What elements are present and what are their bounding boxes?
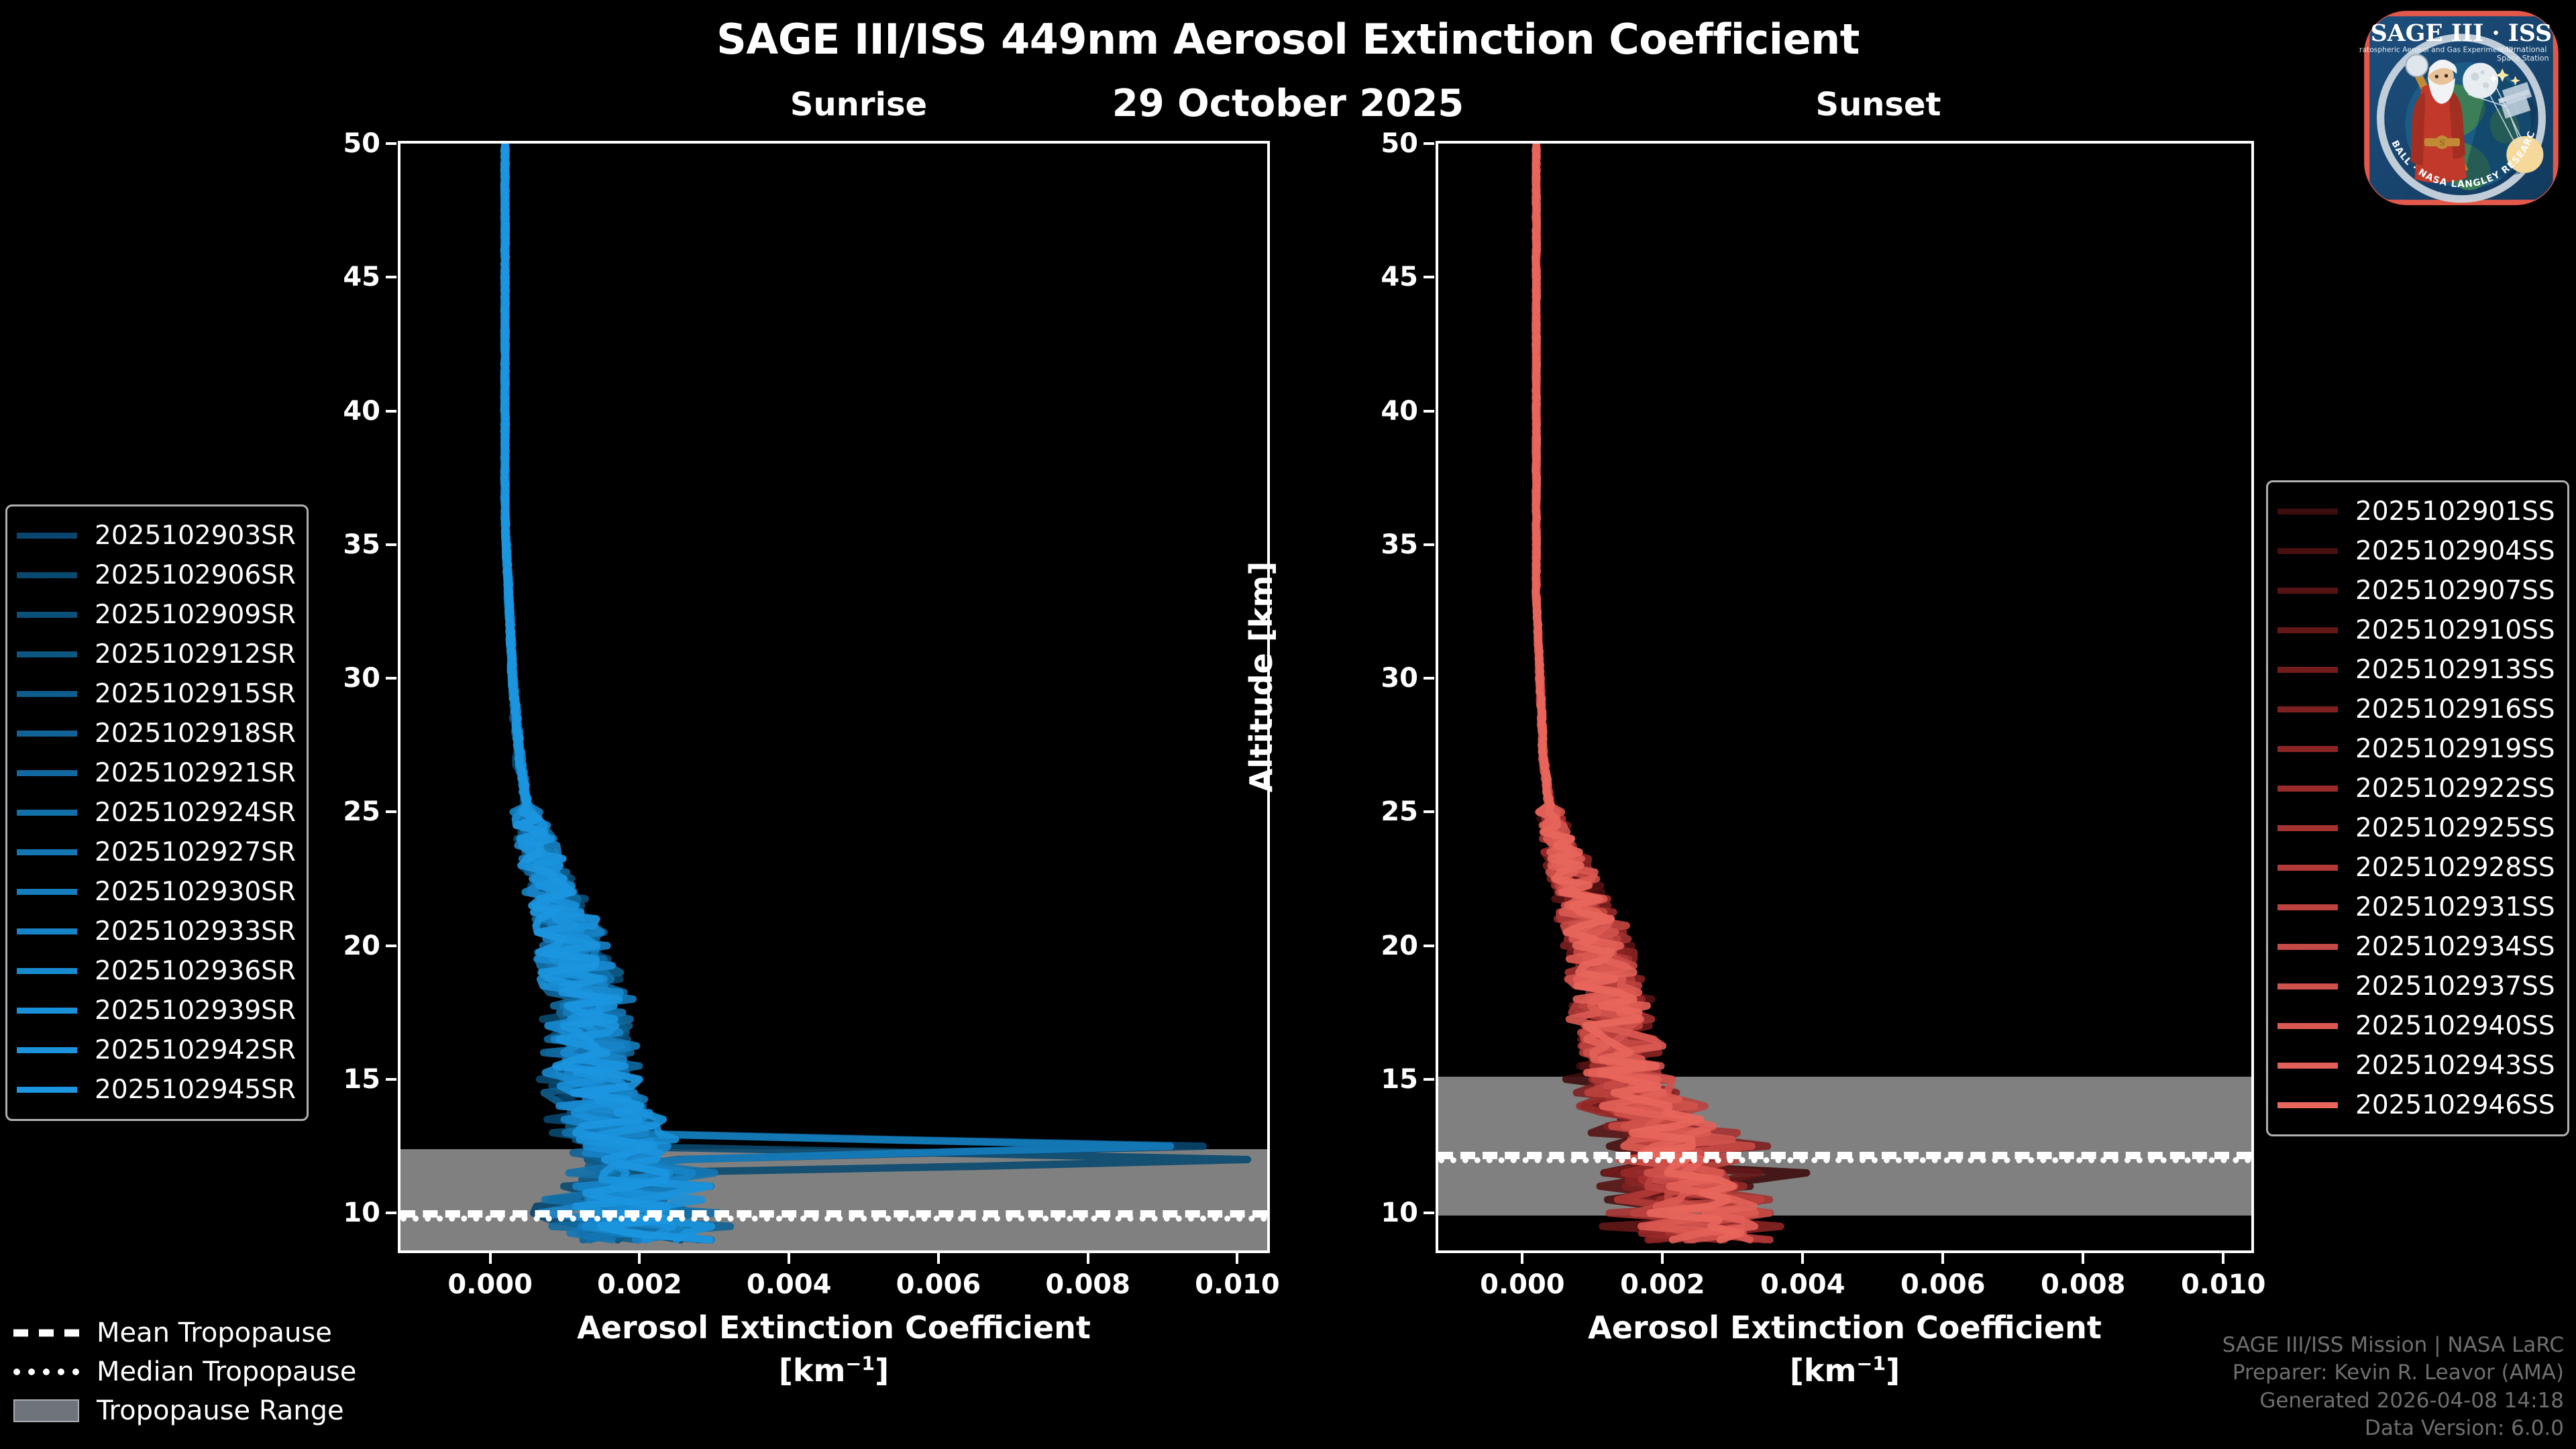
legend-label: 2025102924SR: [95, 798, 296, 828]
y-tick-mark: [1424, 945, 1434, 947]
y-tick-label: 45: [280, 262, 380, 292]
legend-item[interactable]: 2025102924SR: [17, 793, 294, 833]
credits-block: SAGE III/ISS Mission | NASA LaRC Prepare…: [2222, 1332, 2564, 1442]
legend-item[interactable]: 2025102921SR: [17, 753, 294, 793]
data-curves-sunset: [1438, 144, 2251, 1250]
legend-item-median-tropopause: Median Tropopause: [13, 1352, 362, 1391]
legend-item[interactable]: 2025102903SR: [17, 516, 294, 555]
legend-color-swatch: [17, 1047, 77, 1053]
legend-item[interactable]: 2025102906SR: [17, 555, 294, 595]
y-tick-label: 10: [280, 1197, 380, 1228]
legend-item[interactable]: 2025102940SS: [2277, 1006, 2555, 1046]
panel-title-sunrise: Sunrise: [671, 86, 1046, 123]
y-tick-mark: [1424, 543, 1434, 546]
legend-color-swatch: [2277, 548, 2338, 554]
x-tick-label: 0.004: [715, 1269, 863, 1300]
y-tick-mark: [1424, 1078, 1434, 1081]
x-tick-mark: [1661, 1253, 1664, 1264]
legend-label: 2025102928SS: [2355, 853, 2555, 883]
legend-label: 2025102903SR: [95, 521, 296, 551]
legend-color-swatch: [17, 1008, 77, 1014]
legend-item[interactable]: 2025102916SS: [2277, 690, 2555, 729]
y-tick-label: 15: [1318, 1064, 1418, 1095]
legend-label: 2025102909SR: [95, 600, 296, 630]
legend-item[interactable]: 2025102937SS: [2277, 967, 2555, 1006]
legend-label-mean-tropopause: Mean Tropopause: [97, 1318, 332, 1348]
plot-area-sunrise: [398, 141, 1270, 1253]
legend-color-swatch: [17, 928, 77, 934]
legend-label: 2025102922SS: [2355, 773, 2555, 804]
legend-label-median-tropopause: Median Tropopause: [97, 1356, 356, 1387]
legend-item[interactable]: 2025102904SS: [2277, 531, 2555, 571]
legend-color-swatch: [17, 572, 77, 578]
legend-item[interactable]: 2025102901SS: [2277, 492, 2555, 531]
credit-line-2: Preparer: Kevin R. Leavor (AMA): [2222, 1359, 2564, 1387]
y-tick-label: 20: [1318, 930, 1418, 961]
y-tick-mark: [1424, 677, 1434, 680]
legend-label: 2025102930SR: [95, 877, 296, 907]
x-tick-mark: [1087, 1253, 1089, 1264]
x-tick-label: 0.008: [1014, 1269, 1162, 1300]
legend-item[interactable]: 2025102936SR: [17, 951, 294, 991]
legend-label: 2025102934SS: [2355, 932, 2555, 962]
legend-color-swatch: [17, 651, 77, 657]
legend-item[interactable]: 2025102912SR: [17, 635, 294, 674]
x-tick-label: 0.000: [417, 1269, 564, 1300]
dotted-line-icon: [13, 1363, 79, 1381]
legend-item[interactable]: 2025102925SS: [2277, 808, 2555, 848]
sage-iii-iss-mission-logo-icon: S BALL · NASA LANGLEY RESEARCH CENTER · …: [2359, 5, 2564, 211]
legend-color-swatch: [2277, 627, 2338, 633]
y-tick-mark: [1424, 276, 1434, 278]
legend-color-swatch: [2277, 865, 2338, 871]
legend-color-swatch: [17, 1087, 77, 1093]
legend-item[interactable]: 2025102933SR: [17, 912, 294, 951]
legend-color-swatch: [17, 533, 77, 539]
x-tick-label: 0.002: [1589, 1269, 1736, 1300]
legend-color-swatch: [17, 968, 77, 974]
x-tick-mark: [638, 1253, 641, 1264]
legend-label: 2025102942SR: [95, 1035, 296, 1065]
legend-item[interactable]: 2025102913SS: [2277, 650, 2555, 690]
legend-color-swatch: [2277, 588, 2338, 594]
y-tick-mark: [386, 677, 396, 680]
logo-subtitle-left: Stratospheric Aerosol and Gas Experiment…: [2359, 45, 2513, 54]
y-tick-label: 40: [1318, 396, 1418, 427]
x-tick-mark: [1236, 1253, 1238, 1264]
x-axis-title-line2: [km−1]: [398, 1352, 1270, 1389]
date-subtitle: 29 October 2025: [0, 82, 2576, 125]
legend-item[interactable]: 2025102922SS: [2277, 769, 2555, 808]
credit-line-3: Generated 2026-04-08 14:18: [2222, 1387, 2564, 1415]
legend-sunrise[interactable]: 2025102903SR2025102906SR2025102909SR2025…: [5, 504, 309, 1121]
legend-color-swatch: [2277, 825, 2338, 831]
legend-item[interactable]: 2025102945SR: [17, 1070, 294, 1110]
legend-label: 2025102946SS: [2355, 1090, 2555, 1120]
x-tick-mark: [2222, 1253, 2224, 1264]
legend-item[interactable]: 2025102915SR: [17, 674, 294, 714]
x-tick-mark: [1941, 1253, 1944, 1264]
y-tick-mark: [386, 945, 396, 947]
legend-item[interactable]: 2025102939SR: [17, 991, 294, 1030]
legend-color-swatch: [2277, 983, 2338, 989]
legend-label: 2025102940SS: [2355, 1011, 2555, 1041]
x-tick-label: 0.006: [1869, 1269, 2017, 1300]
filled-box-icon: [13, 1402, 79, 1419]
legend-color-swatch: [17, 612, 77, 618]
dashed-line-icon: [13, 1324, 79, 1342]
legend-color-swatch: [2277, 904, 2338, 910]
legend-item-mean-tropopause: Mean Tropopause: [13, 1313, 362, 1352]
legend-color-swatch: [2277, 746, 2338, 752]
x-tick-mark: [489, 1253, 492, 1264]
legend-label: 2025102933SR: [95, 916, 296, 947]
x-tick-label: 0.002: [566, 1269, 713, 1300]
legend-item-tropopause-range: Tropopause Range: [13, 1391, 362, 1430]
x-tick-mark: [1521, 1253, 1523, 1264]
legend-label: 2025102910SS: [2355, 615, 2555, 645]
y-tick-label: 10: [1318, 1197, 1418, 1228]
plot-area-sunset: [1436, 141, 2254, 1253]
legend-sunset[interactable]: 2025102901SS2025102904SS2025102907SS2025…: [2266, 480, 2569, 1136]
legend-label: 2025102921SR: [95, 758, 296, 788]
legend-label: 2025102945SR: [95, 1075, 296, 1105]
legend-color-swatch: [2277, 944, 2338, 950]
y-tick-mark: [386, 410, 396, 413]
y-tick-label: 50: [280, 128, 380, 159]
panel-title-sunset: Sunset: [1690, 86, 2066, 123]
x-tick-label: 0.004: [1729, 1269, 1876, 1300]
legend-label: 2025102907SS: [2355, 576, 2555, 606]
legend-label: 2025102916SS: [2355, 694, 2555, 724]
x-axis-title-line1: Aerosol Extinction Coefficient: [398, 1309, 1270, 1346]
y-tick-label: 45: [1318, 262, 1418, 292]
legend-label: 2025102904SS: [2355, 536, 2555, 566]
y-tick-mark: [386, 142, 396, 145]
logo-title: SAGE III · ISS: [2371, 19, 2552, 47]
legend-label: 2025102901SS: [2355, 496, 2555, 527]
legend-item[interactable]: 2025102928SS: [2277, 848, 2555, 888]
legend-color-swatch: [2277, 1023, 2338, 1029]
tropopause-legend: Mean Tropopause Median Tropopause Tropop…: [13, 1313, 362, 1430]
legend-label-tropopause-range: Tropopause Range: [97, 1395, 344, 1426]
x-tick-mark: [788, 1253, 790, 1264]
legend-color-swatch: [17, 810, 77, 816]
x-tick-label: 0.006: [865, 1269, 1012, 1300]
legend-item[interactable]: 2025102946SS: [2277, 1085, 2555, 1125]
legend-color-swatch: [17, 770, 77, 776]
x-tick-mark: [1801, 1253, 1804, 1264]
legend-color-swatch: [2277, 1063, 2338, 1069]
svg-text:S: S: [2439, 138, 2445, 148]
legend-item[interactable]: 2025102918SR: [17, 714, 294, 753]
legend-color-swatch: [2277, 786, 2338, 792]
legend-item[interactable]: 2025102931SS: [2277, 888, 2555, 927]
y-tick-label: 50: [1318, 128, 1418, 159]
legend-item[interactable]: 2025102934SS: [2277, 927, 2555, 967]
legend-label: 2025102925SS: [2355, 813, 2555, 843]
legend-label: 2025102915SR: [95, 679, 296, 709]
y-tick-label: 30: [1318, 663, 1418, 694]
y-tick-mark: [386, 1212, 396, 1214]
x-axis-title-line2: [km−1]: [1436, 1352, 2254, 1389]
y-tick-mark: [1424, 810, 1434, 813]
legend-color-swatch: [17, 889, 77, 895]
x-axis-title-sunrise: Aerosol Extinction Coefficient [km−1]: [398, 1309, 1270, 1389]
y-tick-mark: [1424, 142, 1434, 145]
y-tick-mark: [1424, 410, 1434, 413]
logo-subtitle-right-2: Space Station: [2497, 54, 2549, 63]
legend-item[interactable]: 2025102919SS: [2277, 729, 2555, 769]
legend-label: 2025102931SS: [2355, 892, 2555, 922]
logo-subtitle-right-1: International: [2499, 45, 2547, 54]
legend-item[interactable]: 2025102927SR: [17, 833, 294, 872]
legend-color-swatch: [2277, 508, 2338, 515]
legend-color-swatch: [17, 849, 77, 855]
median-tropopause-line: [400, 1216, 1267, 1222]
legend-label: 2025102913SS: [2355, 655, 2555, 685]
legend-label: 2025102906SR: [95, 560, 296, 590]
legend-label: 2025102936SR: [95, 956, 296, 986]
y-tick-label: 40: [280, 396, 380, 427]
legend-color-swatch: [2277, 1102, 2338, 1108]
x-tick-label: 0.008: [2009, 1269, 2157, 1300]
legend-color-swatch: [17, 691, 77, 697]
legend-item[interactable]: 2025102930SR: [17, 872, 294, 912]
legend-item[interactable]: 2025102943SS: [2277, 1046, 2555, 1085]
x-tick-label: 0.010: [2149, 1269, 2297, 1300]
legend-item[interactable]: 2025102942SR: [17, 1030, 294, 1070]
y-tick-mark: [386, 543, 396, 546]
x-tick-mark: [2082, 1253, 2084, 1264]
y-tick-mark: [386, 1078, 396, 1081]
series-line: [504, 144, 710, 1240]
x-tick-label: 0.000: [1448, 1269, 1596, 1300]
x-tick-label: 0.010: [1163, 1269, 1311, 1300]
legend-label: 2025102912SR: [95, 639, 296, 669]
page-title: SAGE III/ISS 449nm Aerosol Extinction Co…: [0, 15, 2576, 64]
legend-item[interactable]: 2025102909SR: [17, 595, 294, 635]
y-tick-mark: [386, 276, 396, 278]
legend-label: 2025102919SS: [2355, 734, 2555, 764]
legend-label: 2025102937SS: [2355, 971, 2555, 1002]
legend-label: 2025102927SR: [95, 837, 296, 867]
data-curves-sunrise: [400, 144, 1267, 1250]
y-tick-label: 25: [1318, 796, 1418, 827]
x-tick-mark: [937, 1253, 940, 1264]
y-tick-mark: [386, 810, 396, 813]
legend-color-swatch: [17, 731, 77, 737]
x-axis-title-line1: Aerosol Extinction Coefficient: [1436, 1309, 2254, 1346]
credit-line-4: Data Version: 6.0.0: [2222, 1415, 2564, 1442]
legend-label: 2025102939SR: [95, 996, 296, 1026]
y-tick-mark: [1424, 1212, 1434, 1214]
legend-color-swatch: [2277, 706, 2338, 712]
legend-label: 2025102918SR: [95, 718, 296, 749]
legend-label: 2025102943SS: [2355, 1051, 2555, 1081]
y-tick-label: 35: [1318, 529, 1418, 560]
legend-item[interactable]: 2025102910SS: [2277, 610, 2555, 650]
legend-item[interactable]: 2025102907SS: [2277, 571, 2555, 610]
x-axis-title-sunset: Aerosol Extinction Coefficient [km−1]: [1436, 1309, 2254, 1389]
y-axis-title-sunset: Altitude [km]: [1243, 543, 1279, 811]
legend-color-swatch: [2277, 667, 2338, 673]
median-tropopause-line: [1438, 1157, 2251, 1163]
credit-line-1: SAGE III/ISS Mission | NASA LaRC: [2222, 1332, 2564, 1359]
